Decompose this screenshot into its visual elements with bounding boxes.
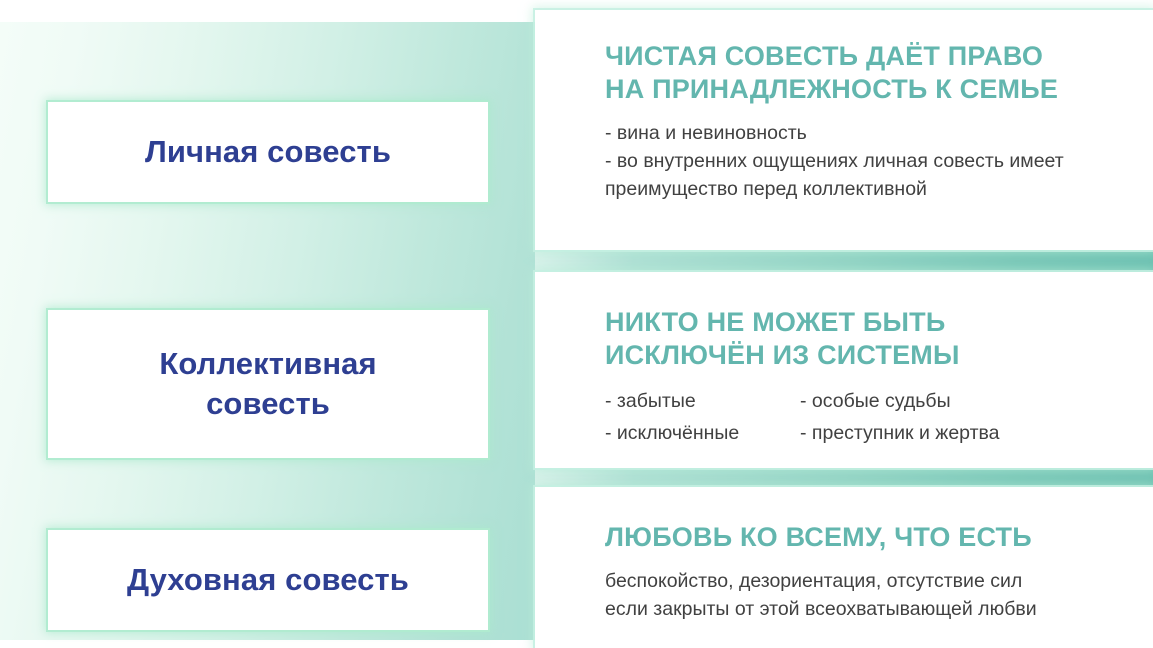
card-heading: ЧИСТАЯ СОВЕСТЬ ДАЁТ ПРАВО НА ПРИНАДЛЕЖНО… bbox=[605, 40, 1083, 106]
concept-label-text: Коллективная совесть bbox=[159, 344, 376, 425]
slide-canvas: Личная совесть Коллективная совесть Духо… bbox=[0, 0, 1153, 648]
card-body-columns: - забытые - исключённые - особые судьбы … bbox=[605, 386, 1083, 449]
left-gradient-panel: Личная совесть Коллективная совесть Духо… bbox=[0, 22, 536, 640]
card-body-text: - вина и невиновность - во внутренних ощ… bbox=[605, 120, 1083, 203]
concept-label-box-spiritual[interactable]: Духовная совесть bbox=[48, 530, 488, 630]
concept-label-box-personal[interactable]: Личная совесть bbox=[48, 102, 488, 202]
card-body-column-right: - особые судьбы - преступник и жертва bbox=[800, 386, 1083, 449]
card-heading: ЛЮБОВЬ КО ВСЕМУ, ЧТО ЕСТЬ bbox=[605, 521, 1083, 554]
concept-label-text: Личная совесть bbox=[145, 132, 391, 172]
card-body-text: беспокойство, дезориентация, отсутствие … bbox=[605, 568, 1083, 623]
concept-label-text: Духовная совесть bbox=[127, 560, 409, 600]
card-separator-band bbox=[535, 250, 1153, 272]
card-heading: НИКТО НЕ МОЖЕТ БЫТЬ ИСКЛЮЧЁН ИЗ СИСТЕМЫ bbox=[605, 306, 1083, 372]
card-body-column-left: - забытые - исключённые bbox=[605, 386, 800, 449]
concept-label-box-collective[interactable]: Коллективная совесть bbox=[48, 310, 488, 458]
detail-card-spiritual[interactable]: ЛЮБОВЬ КО ВСЕМУ, ЧТО ЕСТЬ беспокойство, … bbox=[535, 487, 1153, 648]
detail-card-personal[interactable]: ЧИСТАЯ СОВЕСТЬ ДАЁТ ПРАВО НА ПРИНАДЛЕЖНО… bbox=[535, 10, 1153, 250]
detail-card-collective[interactable]: НИКТО НЕ МОЖЕТ БЫТЬ ИСКЛЮЧЁН ИЗ СИСТЕМЫ … bbox=[535, 272, 1153, 468]
